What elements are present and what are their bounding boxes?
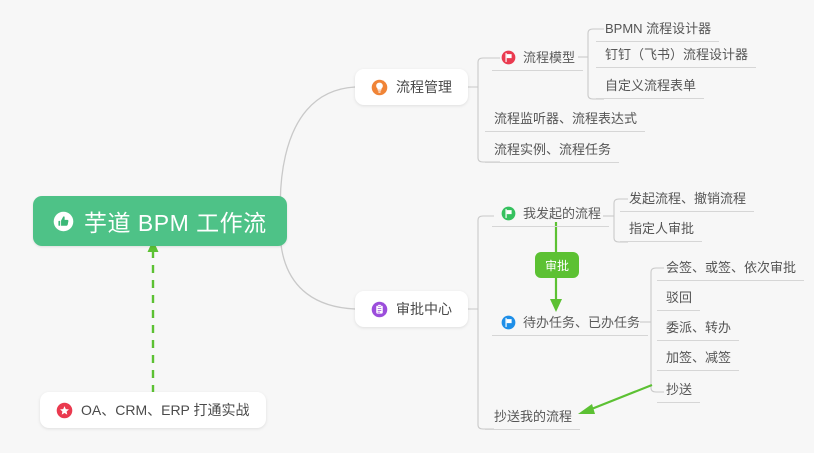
leaf-my-initiated[interactable]: 我发起的流程 (492, 200, 609, 227)
leaf-label: 抄送我的流程 (494, 410, 572, 423)
leaf-cc-to-me[interactable]: 抄送我的流程 (485, 403, 580, 430)
leaf-label: 流程监听器、流程表达式 (494, 112, 637, 125)
leaf-todo-done-tasks[interactable]: 待办任务、已办任务 (492, 309, 648, 336)
flag-icon (501, 315, 516, 330)
flag-icon (501, 206, 516, 221)
root-label: 芋道 BPM 工作流 (84, 204, 267, 238)
branch-approval-center[interactable]: 审批中心 (355, 291, 468, 327)
clipboard-icon (371, 301, 388, 318)
leaf-label: 我发起的流程 (523, 207, 601, 220)
leaf-reject[interactable]: 驳回 (657, 284, 700, 311)
leaf-delegate-transfer[interactable]: 委派、转办 (657, 314, 739, 341)
leaf-label: 加签、减签 (666, 351, 731, 364)
leaf-label: 指定人审批 (629, 222, 694, 235)
leaf-custom-form[interactable]: 自定义流程表单 (596, 72, 704, 99)
flag-icon (501, 50, 516, 65)
bottom-note-label: OA、CRM、ERP 打通实战 (81, 400, 250, 420)
leaf-dingtalk-designer[interactable]: 钉钉（飞书）流程设计器 (596, 41, 756, 68)
approve-badge[interactable]: 审批 (535, 252, 579, 278)
branch-process-management[interactable]: 流程管理 (355, 69, 468, 105)
leaf-label: 自定义流程表单 (605, 79, 696, 92)
leaf-label: 流程实例、流程任务 (494, 143, 611, 156)
leaf-label: BPMN 流程设计器 (605, 22, 711, 35)
bottom-note-node[interactable]: OA、CRM、ERP 打通实战 (40, 392, 266, 428)
leaf-countersign[interactable]: 会签、或签、依次审批 (657, 254, 804, 281)
leaf-label: 委派、转办 (666, 321, 731, 334)
star-icon (56, 402, 73, 419)
lightbulb-icon (371, 79, 388, 96)
root-node[interactable]: 芋道 BPM 工作流 (33, 196, 287, 246)
approve-badge-label: 审批 (545, 257, 569, 274)
leaf-process-model[interactable]: 流程模型 (492, 44, 583, 71)
leaf-label: 流程模型 (523, 51, 575, 64)
thumbs-up-icon (53, 211, 74, 232)
leaf-process-listener[interactable]: 流程监听器、流程表达式 (485, 105, 645, 132)
leaf-assignee-approval[interactable]: 指定人审批 (620, 215, 702, 242)
leaf-process-instance[interactable]: 流程实例、流程任务 (485, 136, 619, 163)
leaf-label: 驳回 (666, 291, 692, 304)
leaf-label: 抄送 (666, 383, 692, 396)
leaf-label: 待办任务、已办任务 (523, 316, 640, 329)
leaf-add-remove-sign[interactable]: 加签、减签 (657, 344, 739, 371)
leaf-cc[interactable]: 抄送 (657, 376, 700, 403)
branch-label: 审批中心 (396, 299, 452, 319)
branch-label: 流程管理 (396, 77, 452, 97)
leaf-label: 发起流程、撤销流程 (629, 192, 746, 205)
leaf-label: 钉钉（飞书）流程设计器 (605, 48, 748, 61)
mindmap-canvas: 芋道 BPM 工作流 OA、CRM、ERP 打通实战 流程管理 流程模型 BPM… (0, 0, 814, 453)
leaf-start-cancel-process[interactable]: 发起流程、撤销流程 (620, 185, 754, 212)
leaf-bpmn-designer[interactable]: BPMN 流程设计器 (596, 15, 719, 42)
leaf-label: 会签、或签、依次审批 (666, 261, 796, 274)
